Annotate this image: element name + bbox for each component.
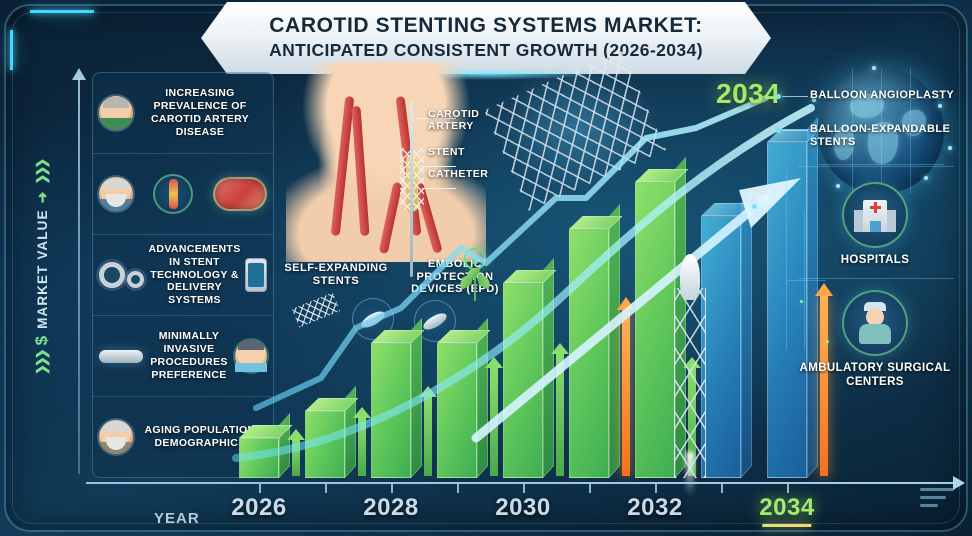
title-line-1: CAROTID STENTING SYSTEMS MARKET: xyxy=(269,15,702,37)
smooth-growth-curve xyxy=(236,108,811,458)
x-axis-line xyxy=(86,482,954,484)
rocket-stent-body xyxy=(674,288,706,478)
y-axis-label-group: ❯❯❯ $ MARKET VALUE ➜ ❯❯❯ xyxy=(16,60,68,476)
elderly-person-icon xyxy=(99,96,133,130)
panel-divider xyxy=(798,278,954,279)
arrow-up-icon: ➜ xyxy=(34,191,51,204)
rocket-stent-icon xyxy=(666,288,714,478)
rocket-nose-cone xyxy=(680,254,700,300)
elderly-man-icon xyxy=(99,177,133,211)
corner-accent-top-right xyxy=(878,8,964,68)
chevron-up-icon: ❯❯❯ xyxy=(34,351,50,375)
infographic-canvas: CAROTID STENTING SYSTEMS MARKET: ANTICIP… xyxy=(0,0,972,536)
clinician-icon xyxy=(855,302,895,344)
ambulatory-badge-icon xyxy=(842,290,908,356)
segment-leader-line xyxy=(782,96,808,97)
x-label-2026: 2026 xyxy=(231,494,286,522)
year-callout-2034: 2034 xyxy=(716,78,780,110)
gear-icon xyxy=(99,262,144,288)
segment-label-balloon-angioplasty[interactable]: BALLOON ANGIOPLASTY xyxy=(810,89,960,102)
y-axis-label: MARKET VALUE xyxy=(35,209,50,328)
hospital-icon xyxy=(854,198,896,232)
title-line-2: ANTICIPATED CONSISTENT GROWTH (2026-2034… xyxy=(269,40,703,60)
x-axis-title: YEAR xyxy=(154,510,200,527)
corner-accent-top-left xyxy=(8,8,94,68)
senior-person-icon xyxy=(99,420,133,454)
dollar-icon: $ xyxy=(32,335,52,346)
hospital-badge-icon xyxy=(842,182,908,248)
market-growth-bar-chart xyxy=(226,78,820,478)
panel-divider xyxy=(798,166,954,167)
y-axis-line xyxy=(78,78,80,474)
driver-label-2: MINIMALLY INVASIVE PROCEDURES PREFERENCE xyxy=(143,330,235,381)
end-user-label-hospitals[interactable]: HOSPITALS xyxy=(792,254,958,268)
x-label-2034: 2034 xyxy=(759,494,814,522)
x-axis-labels: 20262028203020322034 xyxy=(0,486,972,526)
trend-lines-overlay xyxy=(226,78,820,478)
x-label-2028: 2028 xyxy=(363,494,418,522)
segment-leader-line xyxy=(782,130,808,131)
chevron-up-icon-2: ❯❯❯ xyxy=(34,161,50,185)
segments-panel: BALLOON ANGIOPLASTY BALLOON-EXPANDABLE S… xyxy=(792,74,958,480)
narrowed-artery-icon xyxy=(153,174,193,214)
catheter-device-icon xyxy=(99,350,143,363)
segment-label-balloon-expandable-stents[interactable]: BALLOON-EXPANDABLE STENTS xyxy=(810,123,960,149)
x-label-2030: 2030 xyxy=(495,494,550,522)
x-label-2032: 2032 xyxy=(627,494,682,522)
end-user-label-ambulatory[interactable]: AMBULATORY SURGICAL CENTERS xyxy=(792,362,958,390)
